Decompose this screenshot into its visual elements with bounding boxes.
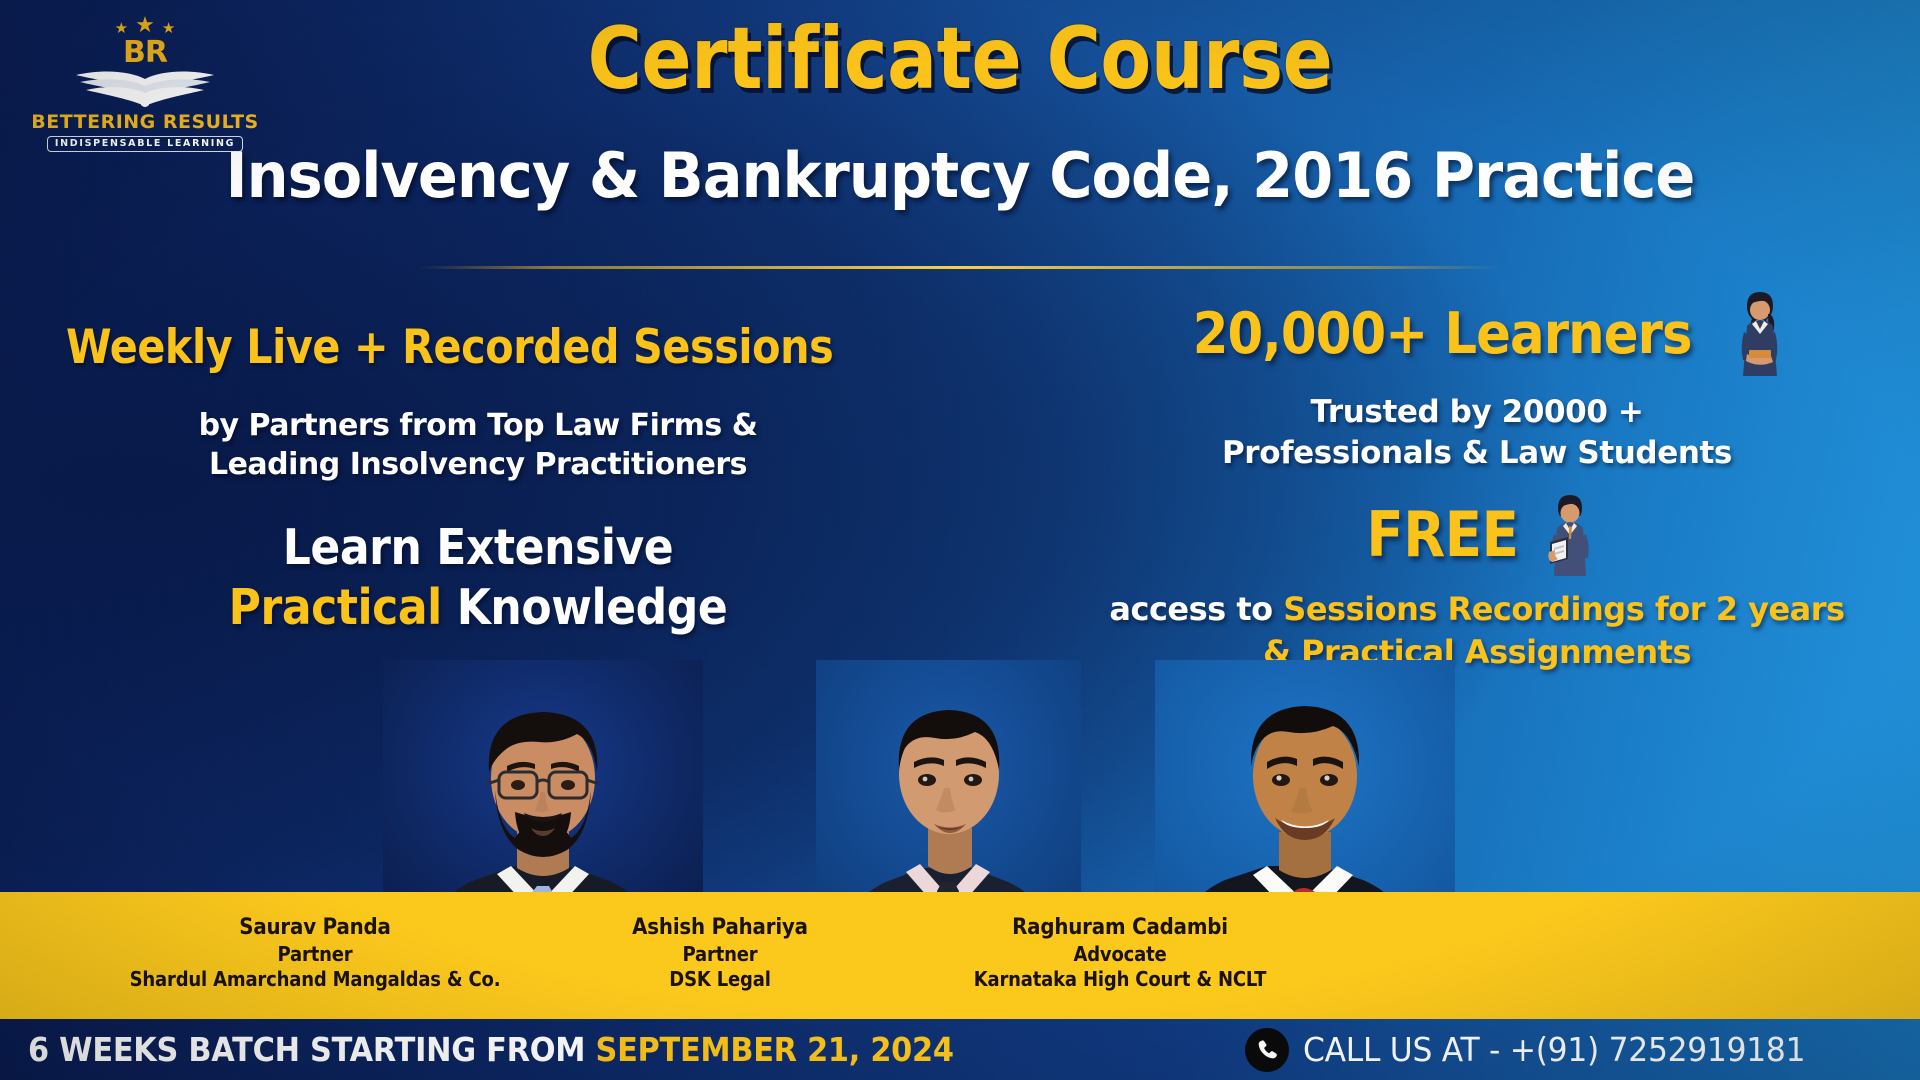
call-us-group[interactable]: CALL US AT - +(91) 7252919181 xyxy=(1245,1028,1832,1072)
speaker-name: Raghuram Cadambi xyxy=(931,914,1309,942)
phone-icon xyxy=(1245,1028,1289,1072)
batch-date: SEPTEMBER 21, 2024 xyxy=(595,1030,953,1069)
speaker-info-2: Ashish Pahariya Partner DSK Legal xyxy=(530,914,910,992)
weekly-sessions-headline: Weekly Live + Recorded Sessions xyxy=(66,323,833,372)
trusted-line-1: Trusted by 20000 + xyxy=(1082,392,1872,433)
speaker-role: Partner xyxy=(549,942,891,967)
right-feature-column: 20,000+ Learners Trusted by 20000 + Prof… xyxy=(1082,288,1872,674)
learn-line-1: Learn Extensive xyxy=(208,518,748,578)
learners-count: 20,000+ Learners xyxy=(1193,306,1692,363)
speaker-name-bar: Saurav Panda Partner Shardul Amarchand M… xyxy=(0,892,1920,1014)
footer-bar: 6 WEEKS BATCH STARTING FROM SEPTEMBER 21… xyxy=(0,1014,1920,1080)
access-prefix: access to xyxy=(1109,590,1283,628)
course-eyebrow: Certificate Course xyxy=(134,16,1785,102)
instructors-subtext-line1: by Partners from Top Law Firms & xyxy=(178,406,778,445)
speaker-name-list: Saurav Panda Partner Shardul Amarchand M… xyxy=(0,914,1920,992)
learn-line-2: Practical Knowledge xyxy=(208,578,748,638)
promotional-banner: ★ ★ ★ BR BETTERING RESULTS INDISPENSABLE… xyxy=(0,0,1920,1080)
speaker-info-1: Saurav Panda Partner Shardul Amarchand M… xyxy=(100,914,530,992)
instructors-subtext-line2: Leading Insolvency Practitioners xyxy=(178,445,778,484)
speaker-role: Advocate xyxy=(931,942,1309,967)
call-us-text: CALL US AT - +(91) 7252919181 xyxy=(1303,1030,1805,1069)
access-highlight: Sessions Recordings for 2 years xyxy=(1283,590,1844,628)
learn-knowledge-block: Learn Extensive Practical Knowledge xyxy=(208,518,748,638)
speaker-firm: Shardul Amarchand Mangaldas & Co. xyxy=(122,967,509,992)
speaker-firm: Karnataka High Court & NCLT xyxy=(931,967,1309,992)
trusted-line-2: Professionals & Law Students xyxy=(1082,433,1872,474)
learn-line-2-rest: Knowledge xyxy=(442,579,728,636)
instructors-subtext: by Partners from Top Law Firms & Leading… xyxy=(178,406,778,484)
free-label: FREE xyxy=(1366,504,1518,566)
logo-brand-name: BETTERING RESULTS xyxy=(30,113,260,133)
batch-prefix: 6 WEEKS BATCH STARTING FROM xyxy=(28,1030,595,1069)
speaker-info-3: Raghuram Cadambi Advocate Karnataka High… xyxy=(910,914,1330,992)
weekly-sessions-row: Weekly Live + Recorded Sessions xyxy=(60,300,890,396)
page-title: Insolvency & Bankruptcy Code, 2016 Pract… xyxy=(48,145,1872,207)
gold-divider xyxy=(418,266,1500,269)
speaker-name: Saurav Panda xyxy=(122,914,509,942)
speaker-role: Partner xyxy=(122,942,509,967)
free-row: FREE xyxy=(1082,492,1872,578)
speaker-firm: DSK Legal xyxy=(549,967,891,992)
free-access-line-1: access to Sessions Recordings for 2 year… xyxy=(1082,588,1872,631)
left-feature-column: Weekly Live + Recorded Sessions by Partn… xyxy=(60,300,890,638)
trusted-subtext: Trusted by 20000 + Professionals & Law S… xyxy=(1082,392,1872,474)
batch-start-text: 6 WEEKS BATCH STARTING FROM SEPTEMBER 21… xyxy=(28,1030,954,1069)
male-professional-with-book-illustration-icon xyxy=(1542,492,1598,578)
speaker-name: Ashish Pahariya xyxy=(549,914,891,942)
learners-row: 20,000+ Learners xyxy=(1082,288,1872,380)
female-professional-illustration-icon xyxy=(1729,288,1789,380)
star-icon: ★ xyxy=(115,21,128,36)
learn-highlight: Practical xyxy=(229,579,442,636)
